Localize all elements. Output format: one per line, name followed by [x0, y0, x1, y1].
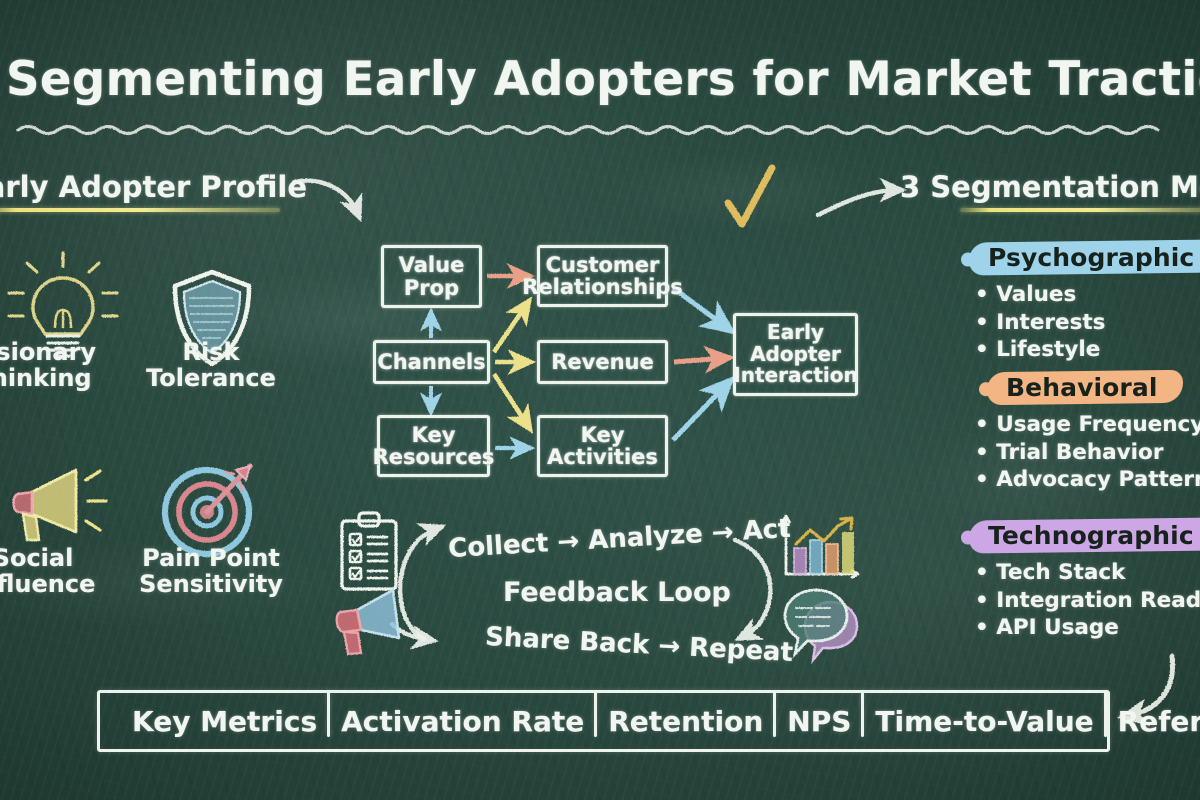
segment-heading: Technographic: [975, 518, 1200, 554]
feedback-loop-top-sequence: Collect → Analyze → Act: [447, 514, 791, 564]
list-item: Integration Readiness: [975, 587, 1200, 615]
metric-nps: NPS: [775, 705, 863, 738]
trait-risk-tolerance: Risk Tolerance: [126, 236, 296, 392]
segment-heading-text: Behavioral: [1006, 373, 1158, 402]
feedback-loop-title: Feedback Loop: [503, 577, 731, 608]
metric-time-to-value: Time-to-Value: [863, 705, 1105, 738]
flow-box-channels: Channels: [373, 340, 490, 384]
segment-item-list: Usage Frequency Trial Behavior Advocacy …: [975, 411, 1200, 494]
segment-item-list: Values Interests Lifestyle: [975, 281, 1200, 364]
list-item: Advocacy Patterns: [975, 466, 1200, 494]
trait-label: Visionary Thinking: [0, 340, 118, 392]
list-item: Interests: [975, 309, 1200, 337]
trait-pain-point-sensitivity: Pain Point Sensitivity: [126, 442, 296, 598]
segment-item-list: Tech Stack Integration Readiness API Usa…: [975, 559, 1200, 642]
trait-visionary-thinking: Visionary Thinking: [0, 236, 118, 392]
list-item: Values: [975, 281, 1200, 309]
metric-retention: Retention: [596, 705, 775, 738]
left-panel-rule: [0, 208, 280, 212]
flow-box-early-adopter-interaction: Early Adopter Interaction: [733, 313, 858, 396]
list-item: Tech Stack: [975, 559, 1200, 587]
flow-box-customer-relationships: Customer Relationships: [537, 245, 668, 307]
feedback-loop-bottom-sequence: Share Back → Repeat: [484, 622, 793, 668]
trait-social-influence: Social Influence: [0, 442, 118, 598]
left-panel-heading: Early Adopter Profile: [0, 170, 307, 204]
list-item: Lifestyle: [975, 336, 1200, 364]
segment-heading-text: Psychographic: [988, 243, 1194, 272]
segment-heading-text: Technographic: [988, 521, 1194, 550]
key-metrics-bar: Key Metrics Activation Rate Retention NP…: [97, 690, 1110, 752]
content-layer: Segmenting Early Adopters for Market Tra…: [0, 0, 1200, 800]
segmentation-group-behavioral: Behavioral Usage Frequency Trial Behavio…: [975, 370, 1200, 494]
flow-box-key-resources: Key Resources: [377, 415, 490, 477]
list-item: Usage Frequency: [975, 411, 1200, 439]
metric-referrals: Referrals: [1106, 705, 1200, 738]
right-panel-heading: 3 Segmentation Methods: [900, 170, 1200, 204]
shield-icon-slot: [126, 236, 296, 340]
flow-box-revenue: Revenue: [537, 340, 668, 384]
list-item: API Usage: [975, 614, 1200, 642]
segmentation-group-technographic: Technographic Tech Stack Integration Rea…: [975, 518, 1200, 642]
flow-box-value-prop: Value Prop: [381, 245, 482, 308]
segment-heading: Psychographic: [975, 240, 1200, 276]
target-arrow-icon-slot: [126, 442, 296, 546]
right-panel-rule: [960, 208, 1200, 212]
trait-label: Pain Point Sensitivity: [126, 546, 296, 598]
segmentation-group-psychographic: Psychographic Values Interests Lifestyle: [975, 240, 1200, 364]
metrics-label: Key Metrics: [120, 705, 329, 738]
trait-label: Risk Tolerance: [126, 340, 296, 392]
lightbulb-icon-slot: [0, 236, 118, 340]
megaphone-icon-slot: [0, 442, 118, 546]
flow-box-key-activities: Key Activities: [537, 415, 668, 477]
page-title: Segmenting Early Adopters for Market Tra…: [6, 52, 1194, 107]
segment-heading: Behavioral: [993, 370, 1173, 406]
trait-label: Social Influence: [0, 546, 118, 598]
list-item: Trial Behavior: [975, 439, 1200, 467]
metric-activation-rate: Activation Rate: [329, 705, 596, 738]
